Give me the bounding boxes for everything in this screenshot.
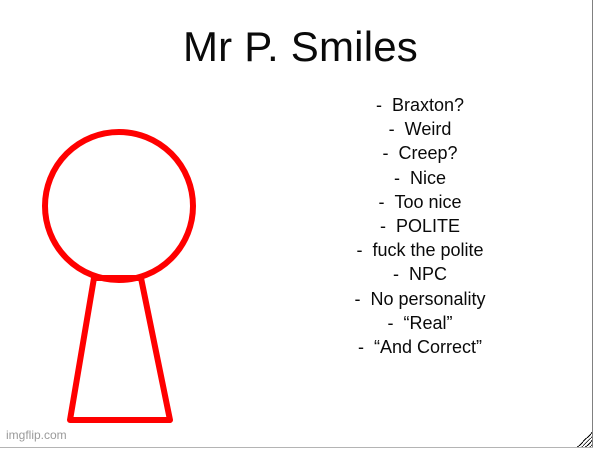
list-item-label: No personality xyxy=(370,289,485,309)
list-item: - Weird xyxy=(330,117,510,141)
list-bullet: - xyxy=(356,240,362,260)
list-item-label: fuck the polite xyxy=(372,240,483,260)
list-item-label: Too nice xyxy=(394,192,461,212)
figure-body-shape xyxy=(70,278,170,420)
meme-canvas: Mr P. Smiles - Braxton? - Weird - Creep?… xyxy=(0,0,601,451)
list-bullet: - xyxy=(376,95,382,115)
list-item: - POLITE xyxy=(330,214,510,238)
list-item: - Braxton? xyxy=(330,93,510,117)
canvas-right-border xyxy=(592,0,593,448)
list-item-label: Braxton? xyxy=(392,95,464,115)
list-item-label: Creep? xyxy=(398,143,457,163)
list-bullet: - xyxy=(394,168,400,188)
list-bullet: - xyxy=(393,264,399,284)
meme-title: Mr P. Smiles xyxy=(0,21,601,73)
list-item: - Creep? xyxy=(330,141,510,165)
list-item-label: “Real” xyxy=(404,313,453,333)
list-bullet: - xyxy=(358,337,364,357)
trait-list: - Braxton? - Weird - Creep? - Nice - Too… xyxy=(330,93,510,359)
list-item: - “And Correct” xyxy=(330,335,510,359)
list-bullet: - xyxy=(387,313,393,333)
figure-head-circle xyxy=(45,132,193,280)
list-item: - fuck the polite xyxy=(330,238,510,262)
list-item: - Too nice xyxy=(330,190,510,214)
list-bullet: - xyxy=(354,289,360,309)
list-bullet: - xyxy=(389,119,395,139)
list-bullet: - xyxy=(380,216,386,236)
list-item-label: Nice xyxy=(410,168,446,188)
canvas-bottom-border xyxy=(0,447,593,448)
list-item-label: POLITE xyxy=(396,216,460,236)
list-item: - Nice xyxy=(330,166,510,190)
list-item-label: NPC xyxy=(409,264,447,284)
red-stick-figure xyxy=(28,118,218,438)
list-item: - No personality xyxy=(330,287,510,311)
resize-grip-icon[interactable] xyxy=(575,430,592,447)
list-bullet: - xyxy=(382,143,388,163)
list-item: - NPC xyxy=(330,262,510,286)
list-item-label: Weird xyxy=(405,119,452,139)
list-item-label: “And Correct” xyxy=(374,337,482,357)
imgflip-watermark: imgflip.com xyxy=(6,428,67,442)
list-item: - “Real” xyxy=(330,311,510,335)
figure-svg xyxy=(28,118,218,438)
list-bullet: - xyxy=(378,192,384,212)
